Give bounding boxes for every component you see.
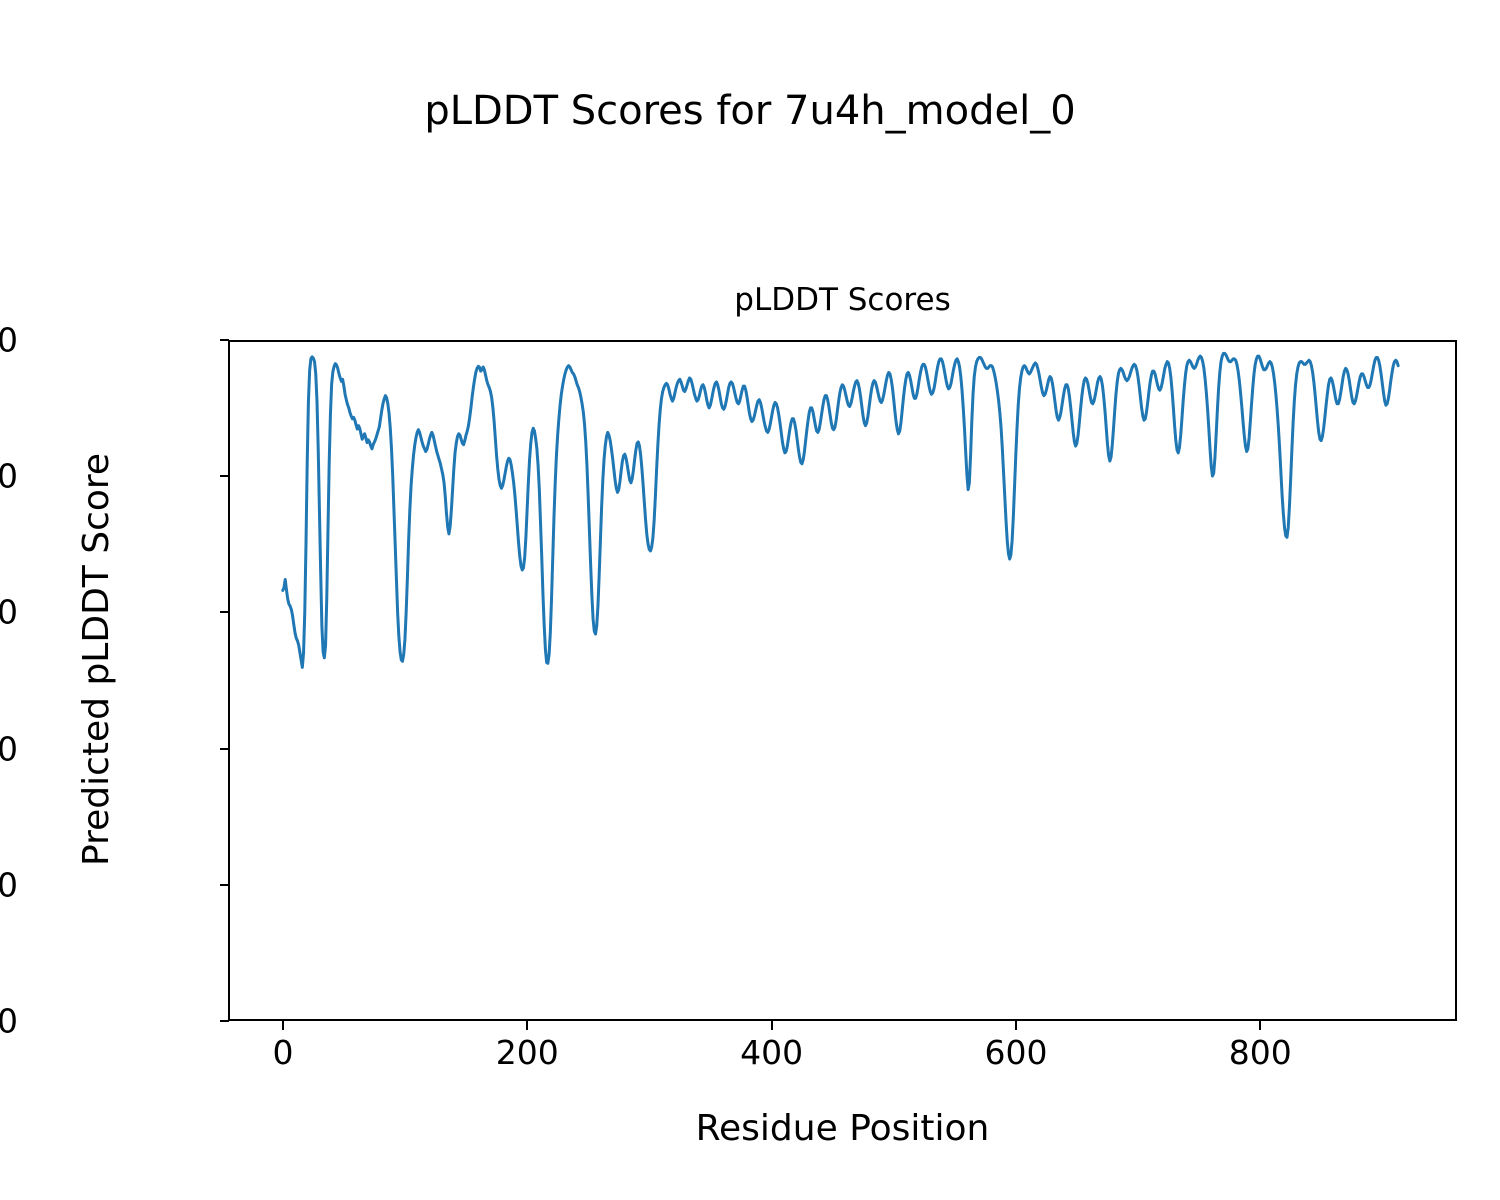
y-tick-label: 60: [0, 596, 18, 629]
y-tick-label: 100: [0, 324, 18, 357]
figure-suptitle: pLDDT Scores for 7u4h_model_0: [0, 88, 1500, 134]
x-tick-label: 600: [984, 1036, 1047, 1069]
axes-title: pLDDT Scores: [228, 282, 1457, 318]
x-tick-label: 0: [272, 1036, 293, 1069]
x-tick-label: 800: [1229, 1036, 1292, 1069]
plddt-line-chart: [230, 342, 1455, 1019]
figure-canvas: pLDDT Scores for 7u4h_model_0 pLDDT Scor…: [0, 0, 1500, 1200]
x-tick-label: 400: [740, 1036, 803, 1069]
y-tick-label: 80: [0, 460, 18, 493]
y-axis-label: Predicted pLDDT Score: [76, 453, 117, 866]
x-axis-label: Residue Position: [228, 1108, 1457, 1149]
y-tick-label: 0: [0, 1005, 18, 1038]
x-tick-mark: [1259, 1021, 1261, 1030]
y-tick-label: 40: [0, 732, 18, 765]
x-tick-mark: [771, 1021, 773, 1030]
y-tick-label: 20: [0, 868, 18, 901]
plddt-series-line: [283, 353, 1398, 667]
plot-area: [228, 340, 1457, 1021]
x-tick-mark: [526, 1021, 528, 1030]
x-tick-label: 200: [496, 1036, 559, 1069]
x-tick-mark: [282, 1021, 284, 1030]
x-tick-mark: [1015, 1021, 1017, 1030]
